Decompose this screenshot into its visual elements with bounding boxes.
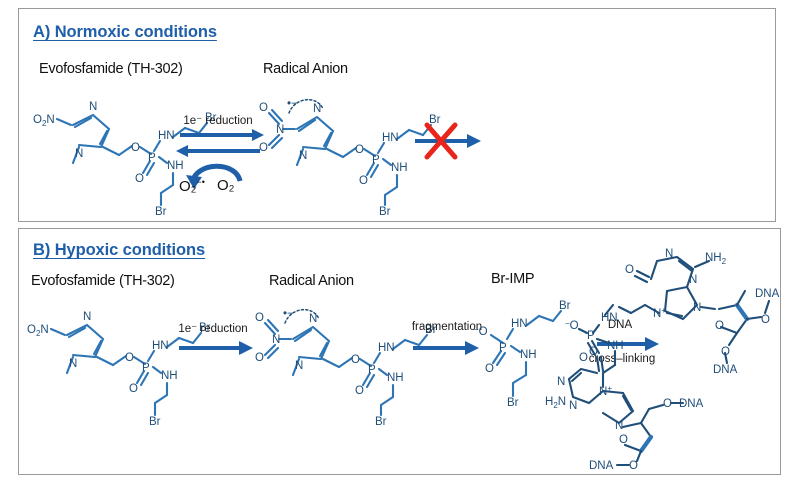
svg-text:HN: HN <box>152 340 169 352</box>
svg-text:O: O <box>255 352 264 364</box>
svg-text:N: N <box>615 420 623 432</box>
svg-text:N: N <box>665 248 673 260</box>
superoxide-formula: O₂ <box>179 178 197 195</box>
svg-text:Br: Br <box>379 206 391 218</box>
panel-a-arrow-label-reduction: 1e⁻ reduction <box>176 113 260 127</box>
svg-text:Br: Br <box>507 397 519 409</box>
svg-text:DNA: DNA <box>755 288 780 300</box>
svg-text:N: N <box>272 334 280 346</box>
svg-text:N: N <box>276 124 284 136</box>
svg-text:O: O <box>629 460 638 472</box>
svg-text:O: O <box>355 385 364 397</box>
svg-text:O: O <box>589 346 598 358</box>
svg-text:P: P <box>142 362 150 374</box>
panel-b-heading: B) Hypoxic conditions <box>33 241 205 260</box>
svg-text:N: N <box>83 311 91 323</box>
svg-text:NH: NH <box>607 340 624 352</box>
panel-a-heading: A) Normoxic conditions <box>33 23 217 42</box>
svg-text:N+: N+ <box>653 306 666 320</box>
svg-text:Br: Br <box>375 416 387 428</box>
svg-text:N: N <box>557 376 565 388</box>
svg-text:N: N <box>693 302 701 314</box>
svg-text:O: O <box>135 173 144 185</box>
svg-text:NH: NH <box>391 162 408 174</box>
svg-text:O: O <box>125 352 134 364</box>
svg-text:Br: Br <box>155 206 167 218</box>
svg-text:O: O <box>131 142 140 154</box>
svg-text:O: O <box>579 352 588 364</box>
svg-text:N: N <box>295 360 303 372</box>
svg-text:N+: N+ <box>599 384 612 398</box>
svg-text:HN: HN <box>158 130 175 142</box>
panel-a-compound-label-evofosfamide: Evofosfamide (TH-302) <box>39 61 183 77</box>
svg-text:N: N <box>313 103 321 115</box>
svg-text:•−: •− <box>283 308 294 320</box>
svg-text:N: N <box>299 150 307 162</box>
svg-text:O2N: O2N <box>33 114 55 128</box>
svg-text:N: N <box>75 148 83 160</box>
svg-text:−O: −O <box>474 325 488 338</box>
svg-text:NH: NH <box>387 372 404 384</box>
arrow-blocked-normoxic <box>411 119 485 163</box>
svg-text:O: O <box>259 102 268 114</box>
svg-text:O: O <box>255 312 264 324</box>
svg-text:O: O <box>663 398 672 410</box>
svg-text:P: P <box>499 342 507 354</box>
svg-text:O: O <box>359 175 368 187</box>
svg-text:O: O <box>485 363 494 375</box>
svg-text:DNA: DNA <box>713 364 738 376</box>
arrow-reduction-hypoxic <box>177 339 255 357</box>
svg-text:O: O <box>351 354 360 366</box>
svg-text:HN: HN <box>378 342 395 354</box>
svg-text:NH2: NH2 <box>705 252 727 266</box>
panel-b-compound-label-radical-anion: Radical Anion <box>269 273 354 289</box>
panel-a-oxygen-label: O₂ <box>217 177 235 194</box>
structure-dna-crosslink: N NH2 N O N+ N O O DNA O DNA <box>579 243 789 473</box>
figure-canvas: A) Normoxic conditions Evofosfamide (TH-… <box>0 0 800 487</box>
svg-text:N: N <box>89 101 97 113</box>
svg-text:HN: HN <box>601 312 618 324</box>
svg-text:P: P <box>368 364 376 376</box>
panel-normoxic: A) Normoxic conditions Evofosfamide (TH-… <box>18 8 776 222</box>
superoxide-charge: −• <box>197 177 205 187</box>
svg-text:O: O <box>625 264 634 276</box>
svg-text:O: O <box>355 144 364 156</box>
svg-text:N: N <box>689 274 697 286</box>
svg-text:P: P <box>587 330 595 342</box>
svg-text:NH: NH <box>161 370 178 382</box>
svg-text:DNA: DNA <box>679 398 704 410</box>
svg-text:N: N <box>69 358 77 370</box>
svg-text:DNA: DNA <box>589 460 614 472</box>
svg-text:O: O <box>619 434 628 446</box>
svg-text:P: P <box>372 154 380 166</box>
panel-b-compound-label-evofosfamide: Evofosfamide (TH-302) <box>31 273 175 289</box>
svg-text:O2N: O2N <box>27 324 49 338</box>
svg-text:P: P <box>148 152 156 164</box>
svg-text:Br: Br <box>559 300 571 312</box>
panel-b-arrow-label-reduction: 1e⁻ reduction <box>171 321 255 335</box>
svg-text:O: O <box>129 383 138 395</box>
svg-text:O: O <box>721 346 730 358</box>
svg-text:HN: HN <box>511 318 528 330</box>
panel-a-superoxide-label: O₂−• <box>179 177 205 195</box>
svg-text:N: N <box>309 313 317 325</box>
svg-text:NH: NH <box>520 349 537 361</box>
svg-text:Br: Br <box>149 416 161 428</box>
panel-hypoxic: B) Hypoxic conditions Evofosfamide (TH-3… <box>18 228 781 475</box>
svg-text:O: O <box>761 314 770 326</box>
svg-text:HN: HN <box>382 132 399 144</box>
panel-a-compound-label-radical-anion: Radical Anion <box>263 61 348 77</box>
svg-text:O: O <box>715 320 724 332</box>
svg-text:O: O <box>259 142 268 154</box>
svg-text:N: N <box>569 400 577 412</box>
panel-b-compound-label-br-imp: Br-IMP <box>491 271 534 287</box>
svg-text:•−: •− <box>287 98 298 110</box>
